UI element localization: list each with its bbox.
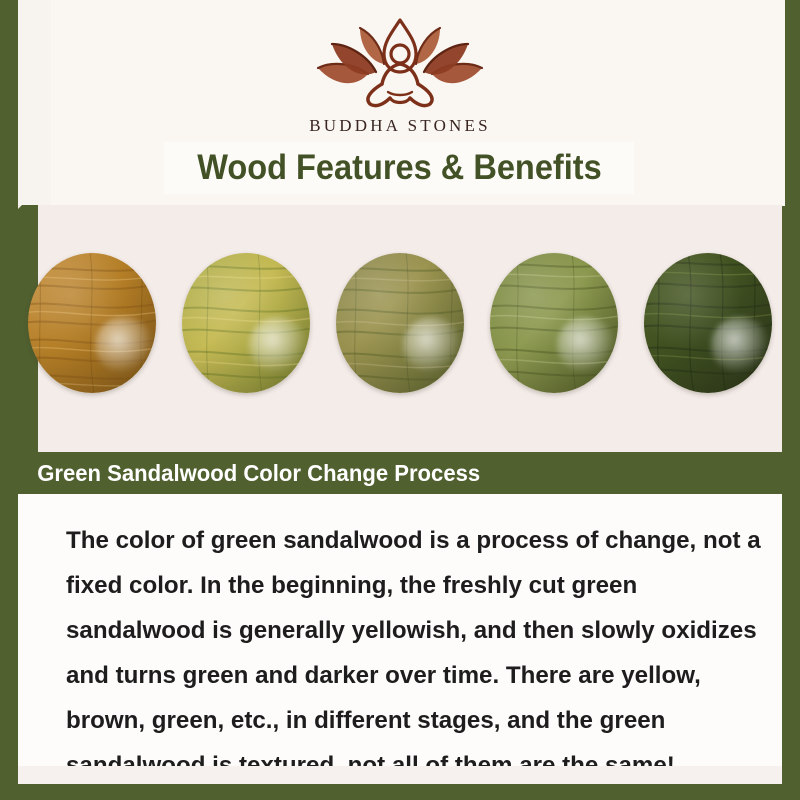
lotus-meditation-icon xyxy=(312,18,488,110)
section-subtitle: Green Sandalwood Color Change Process xyxy=(37,460,480,487)
body-paragraph: The color of green sandalwood is a proce… xyxy=(66,518,767,788)
bead-stage-1 xyxy=(28,253,156,393)
bead-stage-3 xyxy=(336,253,464,393)
bead-stage-5 xyxy=(644,253,772,393)
bead-gallery xyxy=(18,248,782,398)
brand-logo: BUDDHA STONES xyxy=(0,18,800,136)
page-title-plate: Wood Features & Benefits xyxy=(164,142,634,194)
body-panel: The color of green sandalwood is a proce… xyxy=(18,494,782,766)
bead-stage-2 xyxy=(182,253,310,393)
bottom-accent-strip xyxy=(18,766,782,784)
brand-wordmark: BUDDHA STONES xyxy=(309,116,491,136)
section-subtitle-banner: Green Sandalwood Color Change Process xyxy=(0,452,565,494)
page-title: Wood Features & Benefits xyxy=(197,148,602,188)
bead-stage-4 xyxy=(490,253,618,393)
infographic-poster: BUDDHA STONES Wood Features & Benefits xyxy=(0,0,800,800)
